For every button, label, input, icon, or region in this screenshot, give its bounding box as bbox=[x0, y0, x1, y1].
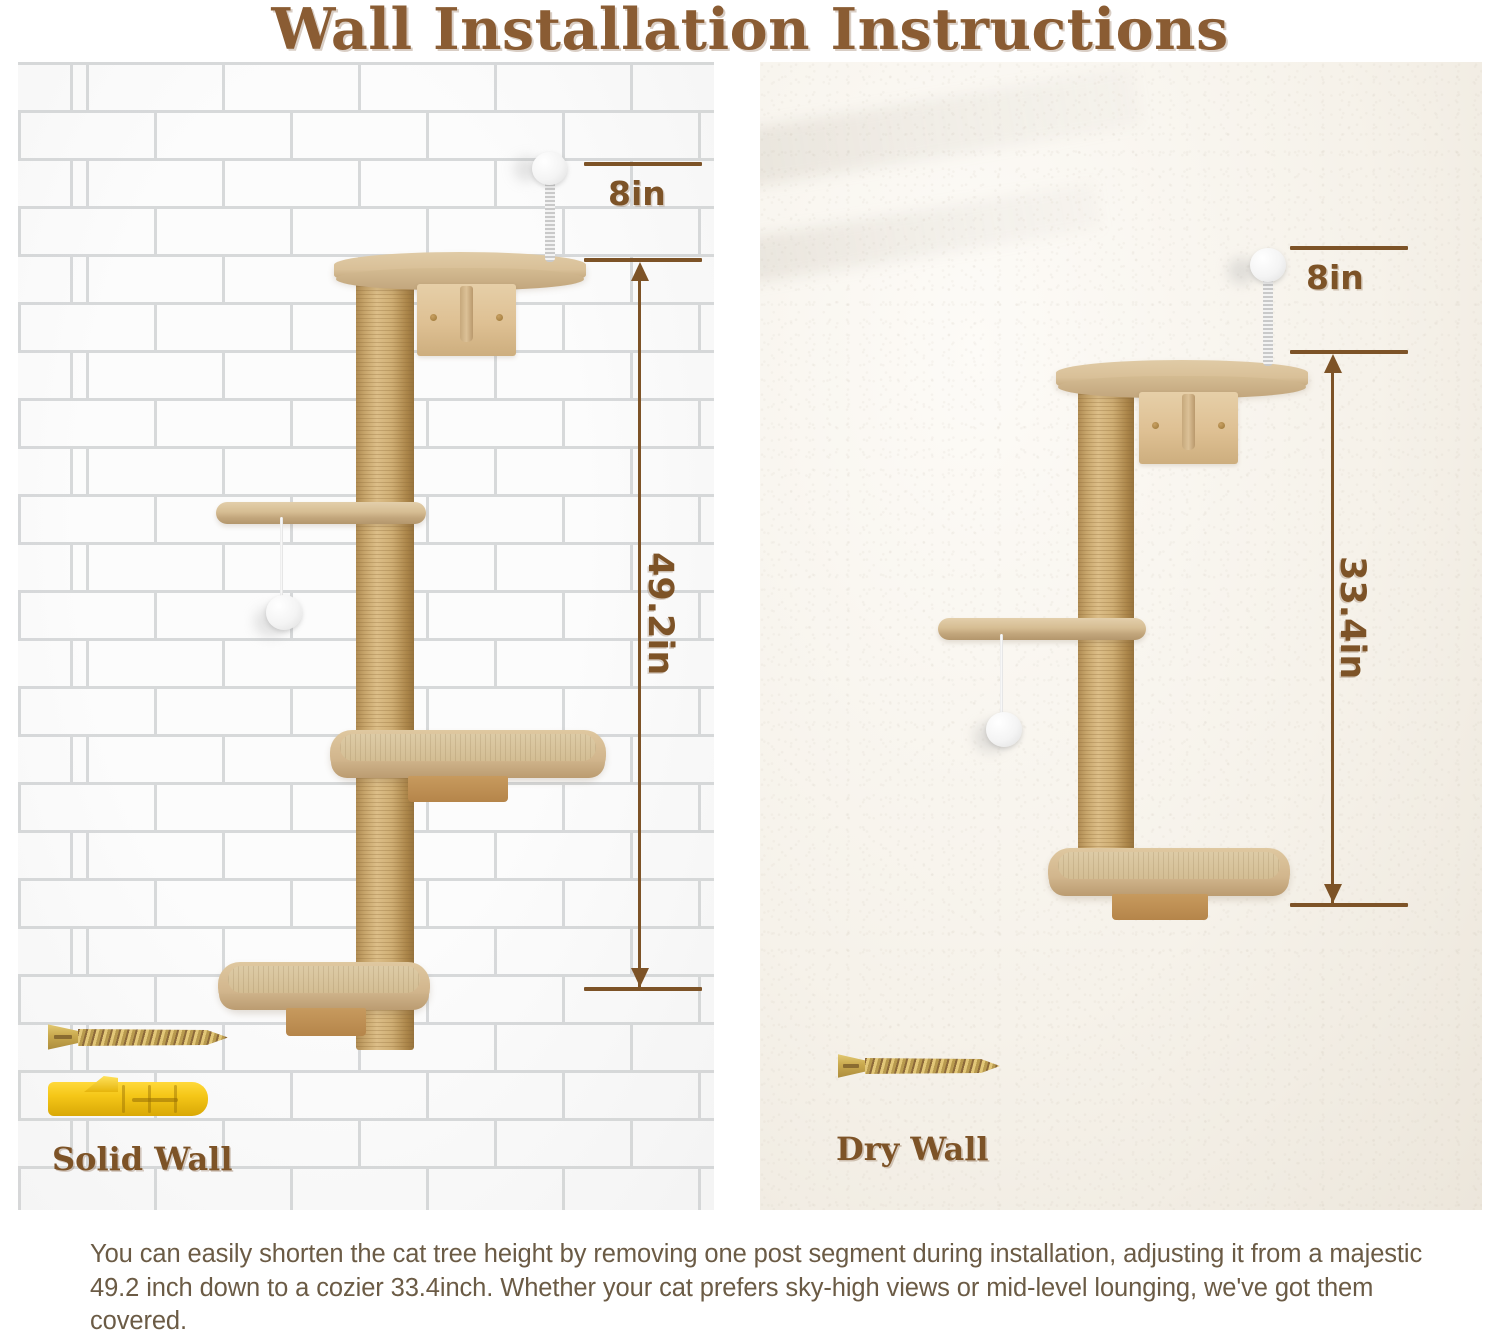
dim-tick-mid bbox=[1290, 350, 1408, 354]
mid-platform-support-bracket bbox=[408, 776, 508, 802]
bracket-screw-left-icon bbox=[430, 314, 437, 321]
screw-icon bbox=[838, 1052, 1000, 1080]
caption-text: You can easily shorten the cat tree heig… bbox=[90, 1238, 1430, 1339]
bracket-screw-right-icon bbox=[496, 314, 503, 321]
middle-toy-string-icon bbox=[280, 517, 283, 603]
mid-platform-sisal-mat bbox=[340, 734, 596, 761]
bracket-tab bbox=[460, 286, 473, 342]
dim-arrow-down bbox=[1324, 884, 1342, 903]
solid-wall-label: Solid Wall bbox=[52, 1140, 232, 1178]
middle-shelf bbox=[216, 502, 426, 524]
middle-toy-string-icon bbox=[1000, 634, 1003, 720]
bracket-screw-right-icon bbox=[1218, 422, 1225, 429]
instruction-panels: Solid Wall 8in 49.2in bbox=[0, 62, 1500, 1212]
dim-label-total-height: 33.4in bbox=[1332, 556, 1372, 679]
dim-arrow-down bbox=[631, 968, 649, 987]
dry-wall-panel: Dry Wall 8in 33.4in bbox=[760, 62, 1482, 1210]
dim-tick-bottom bbox=[584, 987, 702, 991]
bottom-platform-support-bracket bbox=[286, 1008, 366, 1036]
middle-shelf bbox=[938, 618, 1146, 640]
dim-label-top-gap: 8in bbox=[608, 174, 666, 213]
top-pompom-icon bbox=[1250, 248, 1286, 282]
bottom-platform-sisal-mat bbox=[228, 966, 420, 993]
bracket-tab bbox=[1182, 394, 1195, 450]
solid-wall-panel: Solid Wall 8in 49.2in bbox=[18, 62, 714, 1210]
bottom-platform-support-bracket bbox=[1112, 894, 1208, 920]
top-pompom-icon bbox=[532, 152, 567, 185]
dim-tick-top bbox=[584, 162, 702, 166]
dim-tick-bottom bbox=[1290, 903, 1408, 907]
dim-tick-top bbox=[1290, 246, 1408, 250]
dry-wall-label: Dry Wall bbox=[836, 1130, 989, 1168]
page-title: Wall Installation Instructions bbox=[0, 0, 1500, 63]
screw-icon bbox=[48, 1022, 228, 1052]
dim-label-total-height: 49.2in bbox=[640, 552, 680, 675]
wall-anchor-icon bbox=[48, 1082, 208, 1116]
middle-pompom-icon bbox=[266, 595, 302, 630]
sisal-post-icon bbox=[356, 270, 414, 1050]
middle-pompom-icon bbox=[986, 712, 1022, 747]
dim-label-top-gap: 8in bbox=[1306, 258, 1364, 297]
bracket-screw-left-icon bbox=[1152, 422, 1159, 429]
bottom-platform-sisal-mat bbox=[1058, 852, 1280, 879]
top-toy-spring-icon bbox=[1263, 270, 1273, 366]
